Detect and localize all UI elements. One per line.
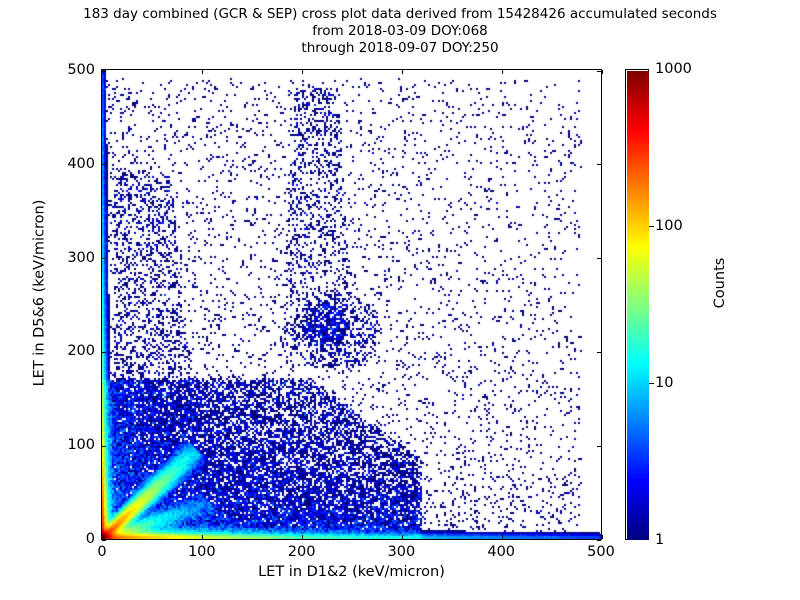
colorbar-tick-label: 10	[655, 375, 673, 391]
y-tick-mark	[102, 446, 106, 447]
y-axis-label: LET in D5&6 (keV/micron)	[32, 58, 48, 529]
y-tick-mark	[597, 258, 601, 259]
x-tick-label: 100	[188, 544, 216, 560]
y-tick-mark	[597, 446, 601, 447]
y-tick-mark	[597, 164, 601, 165]
x-axis-label: LET in D1&2 (keV/micron)	[101, 564, 602, 580]
x-tick-mark	[602, 70, 603, 74]
heatmap-canvas	[102, 70, 601, 539]
colorbar-tick-label: 100	[655, 218, 683, 234]
colorbar-gradient	[625, 69, 649, 540]
y-tick-label: 200	[67, 343, 95, 359]
x-tick-mark	[302, 70, 303, 74]
colorbar-label: Counts	[712, 183, 728, 383]
x-tick-label: 0	[97, 544, 106, 560]
y-tick-label: 400	[67, 156, 95, 172]
x-tick-mark	[103, 535, 104, 539]
y-tick-mark	[597, 540, 601, 541]
y-tick-mark	[102, 258, 106, 259]
y-tick-mark	[597, 352, 601, 353]
colorbar-canvas	[627, 71, 649, 540]
x-tick-mark	[602, 535, 603, 539]
title-line-2: from 2018-03-09 DOY:068	[0, 23, 800, 40]
colorbar-tick-label: 1000	[655, 61, 692, 77]
x-tick-mark	[402, 535, 403, 539]
y-tick-mark	[597, 71, 601, 72]
title-line-1: 183 day combined (GCR & SEP) cross plot …	[0, 6, 800, 23]
y-tick-label: 300	[67, 250, 95, 266]
x-tick-label: 500	[587, 544, 615, 560]
x-tick-mark	[202, 535, 203, 539]
y-tick-label: 0	[86, 531, 95, 547]
colorbar-tick-label: 1	[655, 532, 664, 548]
chart-title: 183 day combined (GCR & SEP) cross plot …	[0, 6, 800, 57]
y-tick-mark	[102, 71, 106, 72]
y-tick-label: 100	[67, 437, 95, 453]
x-tick-label: 300	[388, 544, 416, 560]
y-tick-mark	[102, 164, 106, 165]
colorbar-tick-mark	[649, 226, 654, 227]
x-tick-mark	[202, 70, 203, 74]
y-tick-label: 500	[67, 62, 95, 78]
plot-axes	[101, 69, 602, 540]
y-tick-mark	[102, 540, 106, 541]
x-tick-mark	[502, 70, 503, 74]
colorbar	[625, 69, 649, 540]
x-tick-label: 400	[487, 544, 515, 560]
x-tick-mark	[402, 70, 403, 74]
colorbar-tick-mark	[649, 383, 654, 384]
x-tick-mark	[302, 535, 303, 539]
matplotlib-figure: 183 day combined (GCR & SEP) cross plot …	[0, 0, 800, 600]
x-tick-label: 200	[288, 544, 316, 560]
x-tick-mark	[502, 535, 503, 539]
title-line-3: through 2018-09-07 DOY:250	[0, 40, 800, 57]
y-tick-mark	[102, 352, 106, 353]
